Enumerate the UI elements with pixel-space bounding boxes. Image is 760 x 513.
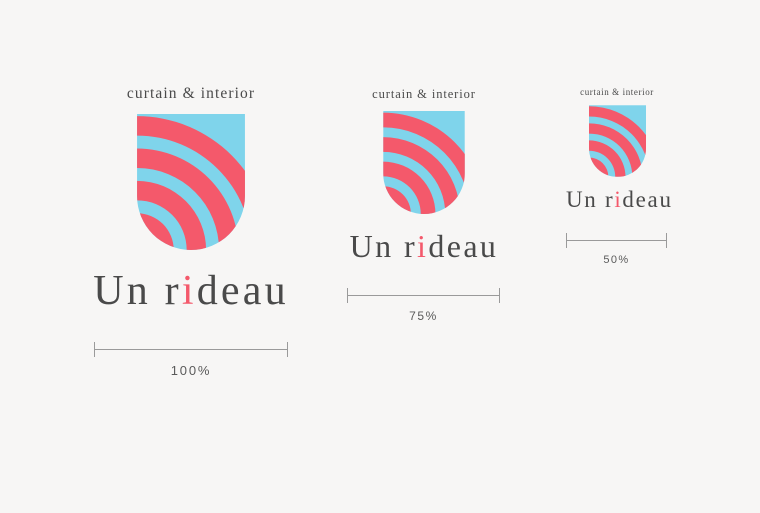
dimension-100: 100% (94, 342, 288, 377)
wordmark-part-before-i: Un r (93, 268, 182, 314)
dimension-50: 50% (566, 233, 667, 266)
brand-tagline: curtain & interior (347, 88, 501, 101)
brand-wordmark: Un rideau (566, 188, 668, 211)
dimension-cap-right (666, 233, 667, 248)
shield-curtain-mark-svg (589, 105, 646, 177)
shield-curtain-mark-svg (383, 111, 465, 214)
dimension-bar (347, 288, 500, 302)
dimension-bar (94, 342, 288, 356)
logo-lockup-100: curtain & interiorUn rideau (88, 86, 294, 312)
brand-mark (137, 114, 245, 250)
brand-tagline: curtain & interior (88, 86, 294, 102)
dimension-bar (566, 233, 667, 247)
dimension-line (347, 295, 500, 296)
dimension-cap-left (94, 342, 95, 357)
scale-percentage-label: 50% (566, 255, 667, 266)
shield-curtain-mark-svg (137, 114, 245, 250)
wordmark-part-before-i: Un r (566, 187, 614, 212)
scale-percentage-label: 75% (347, 310, 500, 322)
wordmark-accent-i-dot: i (182, 268, 197, 314)
dimension-line (566, 240, 667, 241)
brand-tagline: curtain & interior (566, 88, 668, 97)
dimension-cap-left (347, 288, 348, 303)
logo-lockup-75: curtain & interiorUn rideau (347, 88, 501, 262)
dimension-cap-right (287, 342, 288, 357)
dimension-cap-left (566, 233, 567, 248)
dimension-cap-right (499, 288, 500, 303)
scale-percentage-label: 100% (94, 364, 288, 377)
brand-wordmark: Un rideau (88, 270, 294, 312)
brand-mark (383, 111, 465, 214)
brand-wordmark: Un rideau (347, 230, 501, 262)
dimension-75: 75% (347, 288, 500, 322)
logo-lockup-50: curtain & interiorUn rideau (566, 88, 668, 211)
wordmark-part-after-i: deau (622, 187, 672, 212)
brand-mark (589, 105, 646, 177)
wordmark-part-after-i: deau (197, 268, 289, 314)
dimension-line (94, 349, 288, 350)
wordmark-accent-i-dot: i (417, 228, 428, 264)
logo-sizing-board: curtain & interiorUn rideau100%curtain &… (0, 0, 760, 513)
wordmark-part-after-i: deau (428, 228, 498, 264)
wordmark-part-before-i: Un r (350, 228, 417, 264)
